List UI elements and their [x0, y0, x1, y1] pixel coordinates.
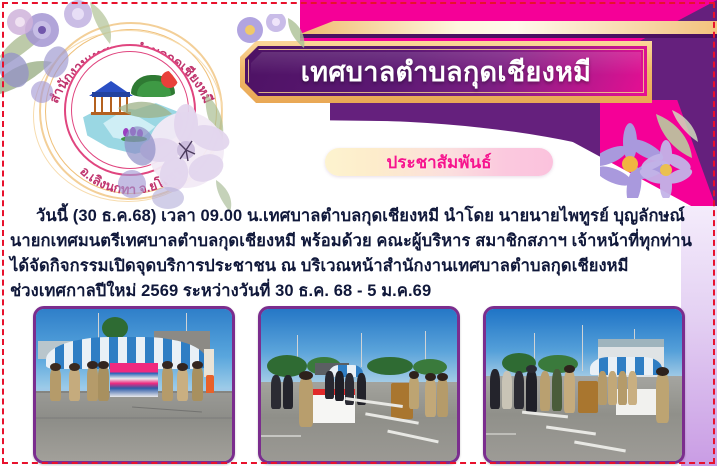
seal-emblem-circle [64, 44, 196, 176]
public-relations-badge-label: ประชาสัมพันธ์ [325, 148, 553, 176]
sun-icon [161, 71, 178, 88]
photo-officials-lined-up-on-road[interactable] [483, 306, 685, 464]
body-line-4: ช่วงเทศกาลปีใหม่ 2569 ระหว่างวันที่ 30 ธ… [10, 279, 710, 304]
pavilion-icon [89, 81, 133, 115]
body-line-3: ได้จัดกิจกรรมเปิดจุดบริการประชาชน ณ บริเ… [10, 254, 710, 279]
header-banner: เทศบาลตำบลกุดเชียงหมี [240, 41, 652, 103]
municipality-seal: สำนักงานเทศบาลตำบลกุดเชียงหมี อ.เลิงนกทา… [33, 18, 229, 206]
lotus-icon [123, 127, 145, 141]
hill-icon [131, 75, 175, 97]
announcement-body: วันนี้ (30 ธ.ค.68) เวลา 09.00 น.เทศบาลตำ… [10, 204, 710, 304]
body-line-2: นายกเทศมนตรีเทศบาลตำบลกุดเชียงหมี พร้อมด… [10, 229, 710, 254]
public-relations-badge: ประชาสัมพันธ์ [325, 148, 553, 176]
photo-opening-ceremony-on-road[interactable] [258, 306, 460, 464]
hill-highlight-icon [137, 81, 171, 97]
announcement-poster: สำนักงานเทศบาลตำบลกุดเชียงหมี อ.เลิงนกทา… [0, 0, 717, 466]
photo-officials-in-front-of-tent[interactable] [33, 306, 235, 464]
water-icon [81, 101, 185, 155]
banner-title: เทศบาลตำบลกุดเชียงหมี [240, 41, 652, 103]
gold-accent-bar [300, 21, 717, 34]
dark-purple-strip [300, 34, 717, 38]
water-inner-icon [97, 111, 159, 145]
photo-gallery [33, 306, 685, 464]
body-line-1: วันนี้ (30 ธ.ค.68) เวลา 09.00 น.เทศบาลตำ… [10, 204, 710, 229]
